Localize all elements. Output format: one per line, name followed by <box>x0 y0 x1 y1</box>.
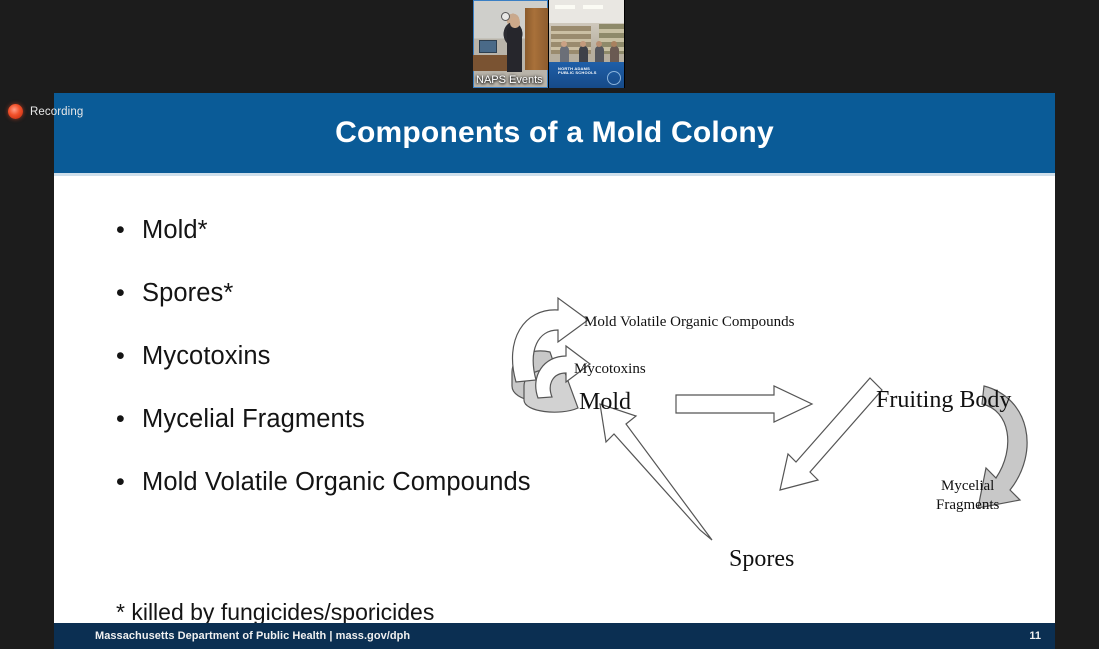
diagram-label-mycelial-fragments: MycelialFragments <box>936 477 999 515</box>
bullet-marker-icon: • <box>116 470 142 495</box>
video-thumbnail-strip: NAPS Events NORTH ADAMS PUBLIC SCHOOLS <box>473 0 625 88</box>
person-decor <box>596 41 602 47</box>
bullet-text: Spores* <box>142 279 233 308</box>
slide-page-number: 11 <box>1029 630 1041 642</box>
arrow-spores-to-mold <box>600 404 712 540</box>
bullet-text: Mycelial Fragments <box>142 405 365 434</box>
desk-decor <box>473 55 509 71</box>
laptop-decor <box>479 40 497 53</box>
person-decor <box>610 46 619 62</box>
door-decor <box>525 8 548 70</box>
bullet-text: Mold* <box>142 216 208 245</box>
mold-colony-diagram: Mold Volatile Organic Compounds Mycotoxi… <box>454 294 1054 594</box>
footer-attribution: Massachusetts Department of Public Healt… <box>95 630 410 642</box>
diagram-label-mvoc: Mold Volatile Organic Compounds <box>584 314 794 331</box>
bullet-marker-icon: • <box>116 407 142 432</box>
presentation-slide: Components of a Mold Colony • Mold* • Sp… <box>54 93 1055 649</box>
footnote-text: * killed by fungicides/sporicides <box>116 599 434 626</box>
bullet-marker-icon: • <box>116 344 142 369</box>
screen: NAPS Events NORTH ADAMS PUBLIC SCHOOLS R… <box>0 0 1099 649</box>
list-item: • Mold* <box>116 216 676 245</box>
video-thumbnail-audience[interactable]: NORTH ADAMS PUBLIC SCHOOLS <box>549 0 624 88</box>
school-seal-icon <box>607 71 621 85</box>
person-decor <box>580 41 586 47</box>
presenter-body-decor <box>507 27 522 72</box>
wall-clock-decor <box>501 12 510 21</box>
person-decor <box>560 46 569 62</box>
bullet-marker-icon: • <box>116 281 142 306</box>
slide-body: • Mold* • Spores* • Mycotoxins • Mycelia… <box>54 176 1055 623</box>
diagram-label-fruiting-body: Fruiting Body <box>876 387 1011 414</box>
arrow-mold-to-fruiting-body <box>676 386 812 422</box>
diagram-label-mycotoxins: Mycotoxins <box>574 361 646 378</box>
arrow-fruiting-body-to-spores <box>780 378 882 490</box>
diagram-label-spores: Spores <box>729 546 794 573</box>
ceiling-light-decor <box>583 5 603 9</box>
diagram-label-mold: Mold <box>579 389 631 416</box>
school-banner-decor: NORTH ADAMS PUBLIC SCHOOLS <box>549 62 624 88</box>
person-decor <box>611 41 617 47</box>
page-title: Components of a Mold Colony <box>335 116 774 150</box>
slide-header: Components of a Mold Colony <box>54 93 1055 173</box>
person-decor <box>579 46 588 62</box>
bullet-text: Mycotoxins <box>142 342 271 371</box>
record-dot-icon <box>8 104 23 119</box>
thumbnail-label-naps-events: NAPS Events <box>476 74 543 86</box>
slide-footer: Massachusetts Department of Public Healt… <box>54 623 1055 649</box>
recording-label: Recording <box>30 106 83 118</box>
video-thumbnail-presenter[interactable]: NAPS Events <box>473 0 548 88</box>
bullet-marker-icon: • <box>116 218 142 243</box>
ceiling-light-decor <box>555 5 575 9</box>
recording-indicator[interactable]: Recording <box>8 104 83 119</box>
presenter-head-decor <box>510 17 520 28</box>
person-decor <box>595 46 604 62</box>
person-decor <box>561 41 567 47</box>
